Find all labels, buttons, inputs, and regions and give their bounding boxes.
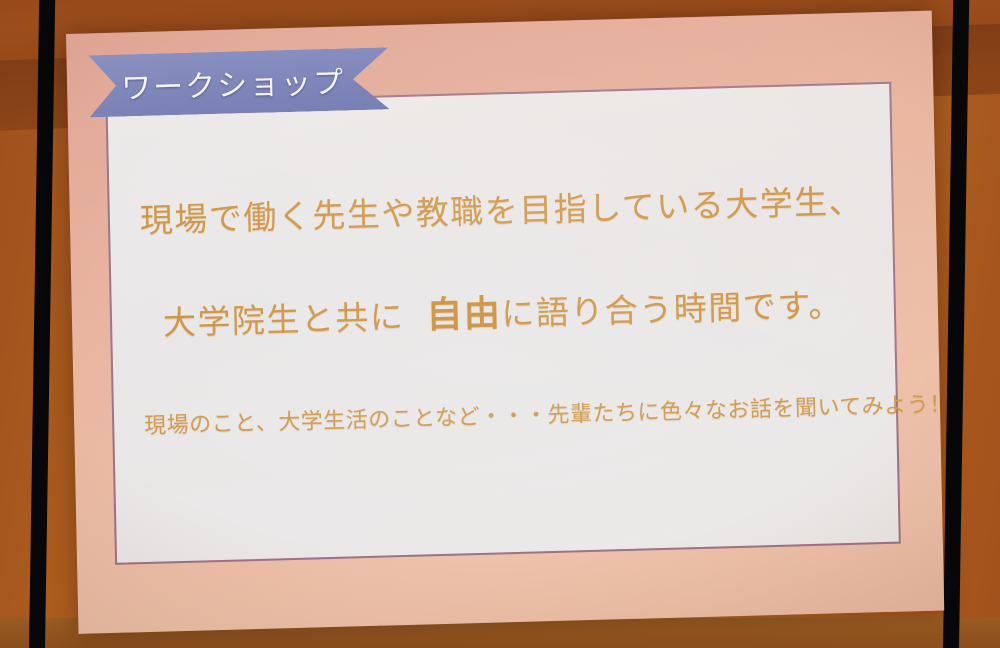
- presentation-slide: 現場で働く先生や教職を目指している大学生、 大学院生と共に自由に語り合う時間です…: [66, 11, 944, 634]
- slide-text-line-2-prefix: 大学院生と共に: [163, 297, 405, 343]
- projected-slide-photo: 現場で働く先生や教職を目指している大学生、 大学院生と共に自由に語り合う時間です…: [0, 0, 1000, 648]
- slide-ribbon-banner: ワークショップ: [88, 47, 389, 117]
- slide-text-line-1: 現場で働く先生や教職を目指している大学生、: [139, 175, 862, 243]
- slide-text-line-2: 大学院生と共に自由に語り合う時間です。: [141, 275, 864, 347]
- slide-content-panel: 現場で働く先生や教職を目指している大学生、 大学院生と共に自由に語り合う時間です…: [105, 82, 900, 565]
- slide-text-emphasis: 自由: [426, 293, 502, 336]
- slide-ribbon-label: ワークショップ: [121, 57, 346, 107]
- slide-text-line-3: 現場のこと、大学生活のことなど・・・先輩たちに色々なお話を聞いてみよう！: [144, 389, 866, 441]
- slide-text-line-2-suffix: に語り合う時間です。: [501, 285, 843, 333]
- slide-text-block: 現場で働く先生や教職を目指している大学生、 大学院生と共に自由に語り合う時間です…: [107, 84, 898, 563]
